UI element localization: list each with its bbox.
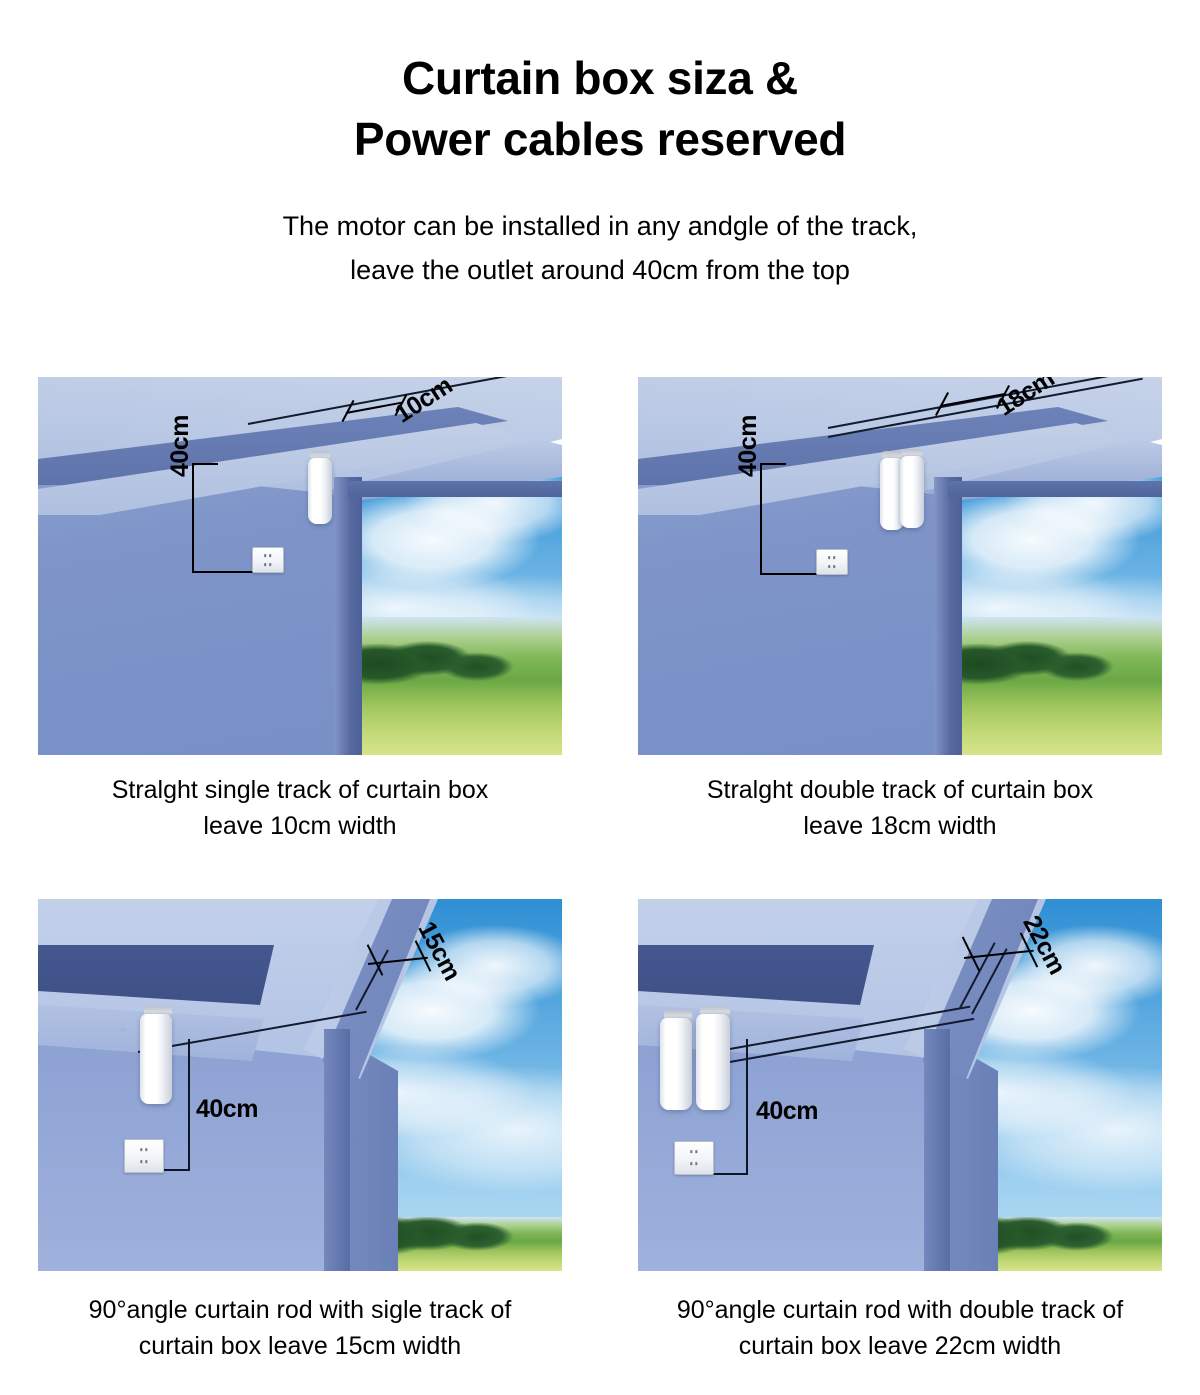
power-outlet (816, 549, 848, 575)
window-head-reveal (348, 481, 562, 497)
window-left-jamb (934, 477, 962, 755)
outlet-hole-row (690, 1151, 697, 1154)
outlet-hole (834, 565, 836, 568)
panel-caption: Stralght double track of curtain box lea… (638, 773, 1162, 844)
outlet-hole-row (265, 563, 272, 566)
diagram-row-top: 10cm 40cm Stralght single t (0, 377, 1200, 844)
drop-dimension-label: 40cm (166, 415, 195, 477)
outlet-hole-row (140, 1160, 147, 1163)
scene-straight-single-track: 10cm 40cm (38, 377, 562, 755)
power-outlet (674, 1141, 714, 1175)
drop-dimension-label: 40cm (734, 415, 763, 477)
drop-dimension-bottom-arm (760, 573, 822, 575)
outlet-hole (265, 554, 267, 557)
panel-caption: 90°angle curtain rod with sigle track of… (38, 1293, 562, 1364)
outlet-hole-row (690, 1162, 697, 1165)
outlet-hole (695, 1162, 697, 1165)
outlet-hole-row (829, 556, 836, 559)
page-header: Curtain box siza & Power cables reserved… (0, 0, 1200, 293)
outlet-hole (695, 1151, 697, 1154)
drop-dimension-vertical (192, 463, 194, 573)
drop-dimension-vertical (760, 463, 762, 575)
drop-dimension-top-arm (192, 463, 218, 465)
scene-straight-double-track: 18cm 40cm (638, 377, 1162, 755)
power-outlet (252, 547, 284, 573)
page-subtitle-line-1: The motor can be installed in any andgle… (0, 205, 1200, 249)
outlet-hole (270, 554, 272, 557)
outlet-hole-row (140, 1149, 147, 1152)
curtain-motor (140, 1014, 172, 1104)
outlet-hole (270, 563, 272, 566)
outlet-hole (829, 556, 831, 559)
page-title-line-2: Power cables reserved (0, 109, 1200, 170)
power-outlet (124, 1139, 164, 1173)
outlet-hole (829, 565, 831, 568)
outlet-socket-holes (257, 551, 279, 569)
panel-caption-line-2: curtain box leave 22cm width (638, 1329, 1162, 1365)
power-outlet (122, 1027, 124, 1029)
panel-caption-line-1: 90°angle curtain rod with double track o… (638, 1293, 1162, 1329)
panel-caption-line-2: leave 18cm width (638, 809, 1162, 845)
power-cable-vertical (188, 1039, 190, 1171)
outlet-hole (265, 563, 267, 566)
panel-caption: 90°angle curtain rod with double track o… (638, 1293, 1162, 1364)
panel-straight-single-track: 10cm 40cm Stralght single t (38, 377, 562, 844)
curtain-motor (660, 1018, 692, 1110)
outlet-socket-holes (130, 1144, 157, 1168)
corner-wall-edge (324, 1029, 350, 1271)
window-head-reveal (948, 481, 1162, 497)
corner-wall-edge (924, 1029, 950, 1271)
page-title-line-1: Curtain box siza & (0, 48, 1200, 109)
panel-straight-double-track: 18cm 40cm Stralght (638, 377, 1162, 844)
outlet-hole (145, 1160, 147, 1163)
curtain-motor (900, 456, 924, 528)
outlet-hole (145, 1149, 147, 1152)
scene-angle-single-track: 15cm 40cm (38, 899, 562, 1271)
panel-angle-double-track: 22cm 40cm 90°angle curtain (638, 899, 1162, 1364)
outlet-hole (140, 1149, 142, 1152)
drop-dimension-bottom-arm (192, 571, 260, 573)
diagram-row-bottom: 15cm 40cm 90°angle (0, 899, 1200, 1364)
outlet-hole (140, 1160, 142, 1163)
panel-angle-single-track: 15cm 40cm 90°angle (38, 899, 562, 1364)
outlet-hole-row (829, 565, 836, 568)
drop-dimension-label: 40cm (196, 1095, 258, 1124)
outlet-hole (690, 1162, 692, 1165)
panel-caption-line-1: Stralght single track of curtain box (38, 773, 562, 809)
outlet-hole (690, 1151, 692, 1154)
window-landscape-view (338, 617, 562, 755)
curtain-motor (696, 1014, 730, 1110)
panel-caption: Stralght single track of curtain box lea… (38, 773, 562, 844)
panel-caption-line-2: leave 10cm width (38, 809, 562, 845)
scene-angle-double-track: 22cm 40cm (638, 899, 1162, 1271)
power-cable-vertical (746, 1039, 748, 1175)
window-left-jamb (334, 477, 362, 755)
page-subtitle-line-2: leave the outlet around 40cm from the to… (0, 249, 1200, 293)
drop-dimension-label: 40cm (756, 1097, 818, 1126)
outlet-hole (834, 556, 836, 559)
panel-caption-line-2: curtain box leave 15cm width (38, 1329, 562, 1365)
curtain-motor (308, 458, 332, 524)
page-subtitle: The motor can be installed in any andgle… (0, 205, 1200, 292)
panel-caption-line-1: Stralght double track of curtain box (638, 773, 1162, 809)
diagram-grid: 10cm 40cm Stralght single t (0, 377, 1200, 1364)
left-wall (38, 1019, 344, 1271)
panel-caption-line-1: 90°angle curtain rod with sigle track of (38, 1293, 562, 1329)
outlet-socket-holes (821, 553, 843, 571)
outlet-socket-holes (680, 1146, 707, 1170)
window-landscape-view (938, 617, 1162, 755)
outlet-hole-row (265, 554, 272, 557)
drop-dimension-top-arm (760, 463, 786, 465)
